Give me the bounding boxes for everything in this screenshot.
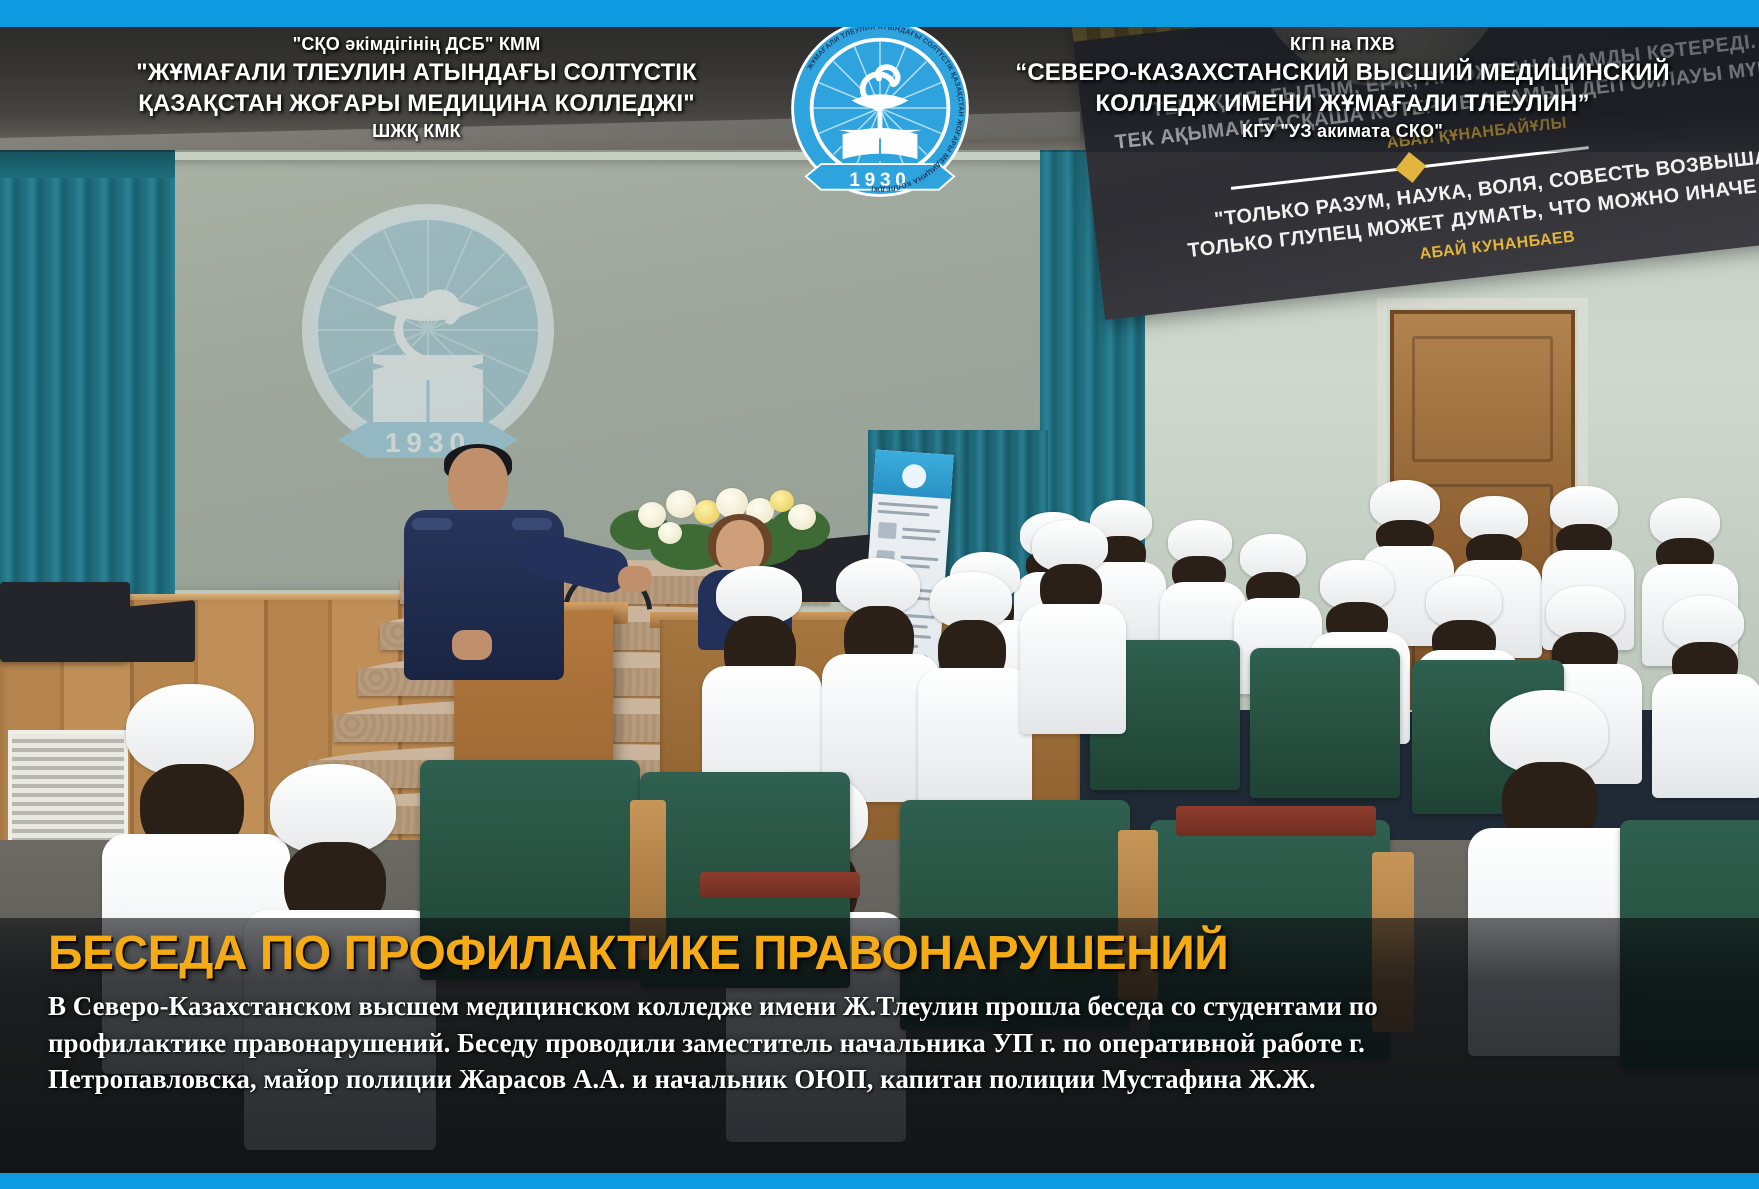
screen-emblem-icon: 1930 bbox=[278, 190, 578, 490]
speaker-epaulette-right bbox=[512, 518, 552, 530]
header-right-line3: КОЛЛЕДЖ ИМЕНИ ЖҰМАҒАЛИ ТЛЕУЛИН” bbox=[994, 90, 1692, 118]
header-left-line3: ҚАЗАҚСТАН ЖОҒАРЫ МЕДИЦИНА КОЛЛЕДЖІ" bbox=[68, 90, 766, 118]
curtain-rail-left bbox=[0, 150, 175, 178]
wall-vent-grille bbox=[8, 730, 128, 850]
banner-diamond-icon bbox=[1395, 152, 1426, 183]
caption-body: В Северо-Казахстанском высшем медицинско… bbox=[48, 988, 1468, 1098]
header-right-line4: КГУ "УЗ акимата СКО" bbox=[994, 120, 1692, 143]
header-logo-wrap: 1930 ЖҰМАҒАЛИ ТЛЕУЛИН АТЫНДАҒЫ СОЛТҮСТІК… bbox=[780, 13, 980, 203]
police-officer-speaker bbox=[400, 448, 580, 678]
bottom-accent-bar bbox=[0, 1173, 1759, 1189]
header-left-line2: "ЖҰМАҒАЛИ ТЛЕУЛИН АТЫНДАҒЫ СОЛТҮСТІК bbox=[68, 59, 766, 87]
seat-wood-trim bbox=[1176, 806, 1376, 836]
stage-monitor-speaker-2 bbox=[95, 600, 195, 662]
poster-image: 1930 "ТЕК АҚЫЛ, ҒЫЛЫМ, ЕРІК, АР-ОЖДАН АД… bbox=[0, 0, 1759, 1189]
header-left-line4: ШЖҚ КМК bbox=[68, 120, 766, 143]
college-emblem-icon: 1930 ЖҰМАҒАЛИ ТЛЕУЛИН АТЫНДАҒЫ СОЛТҮСТІК… bbox=[785, 13, 975, 203]
header-right-russian: КГП на ПХВ “СЕВЕРО-КАЗАХСТАНСКИЙ ВЫСШИЙ … bbox=[980, 27, 1692, 143]
top-accent-bar bbox=[0, 0, 1759, 27]
speaker-epaulette-left bbox=[412, 518, 452, 530]
poster-header: "СҚО әкімдігінің ДСБ" КММ "ЖҰМАҒАЛИ ТЛЕУ… bbox=[0, 27, 1759, 152]
header-right-line1: КГП на ПХВ bbox=[994, 33, 1692, 56]
caption-title: БЕСЕДА ПО ПРОФИЛАКТИКЕ ПРАВОНАРУШЕНИЙ bbox=[48, 930, 1711, 978]
caption-block: БЕСЕДА ПО ПРОФИЛАКТИКЕ ПРАВОНАРУШЕНИЙ В … bbox=[0, 918, 1759, 1098]
header-right-line2: “СЕВЕРО-КАЗАХСТАНСКИЙ ВЫСШИЙ МЕДИЦИНСКИЙ bbox=[994, 59, 1692, 87]
header-left-line1: "СҚО әкімдігінің ДСБ" КММ bbox=[68, 33, 766, 56]
seat-wood-trim bbox=[700, 872, 860, 898]
speaker-hand-right bbox=[618, 566, 652, 592]
auditorium-seat bbox=[1250, 648, 1400, 798]
header-left-kazakh: "СҚО әкімдігінің ДСБ" КММ "ЖҰМАҒАЛИ ТЛЕУ… bbox=[68, 27, 780, 143]
speaker-hand-left bbox=[452, 630, 492, 660]
